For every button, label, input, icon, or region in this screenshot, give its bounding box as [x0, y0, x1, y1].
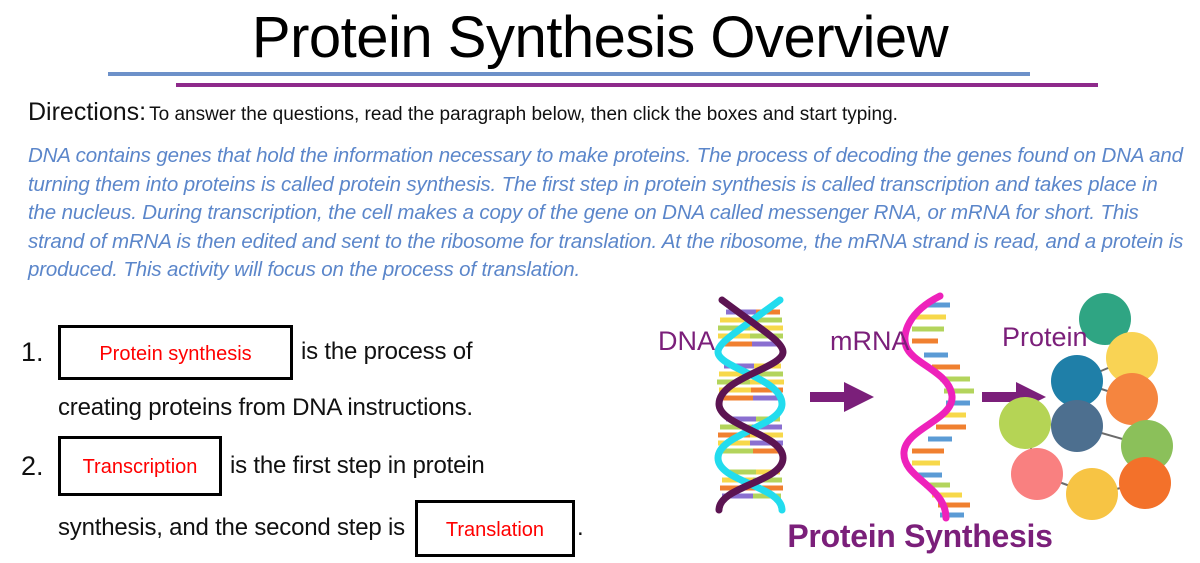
question-1-line2-text: creating proteins from DNA instructions. — [58, 394, 473, 422]
directions-text: To answer the questions, read the paragr… — [149, 104, 898, 125]
node-lime — [999, 397, 1051, 449]
question-1-line-2: creating proteins from DNA instructions. — [14, 382, 674, 434]
question-2-line-2: synthesis, and the second step is Transl… — [14, 498, 674, 558]
answer-input-1[interactable]: Protein synthesis — [58, 325, 293, 380]
question-1-line-1: 1. Protein synthesis is the process of — [14, 322, 674, 382]
question-2-line-1: 2. Transcription is the first step in pr… — [14, 434, 674, 498]
node-blue — [1051, 355, 1103, 407]
diagram-caption: Protein Synthesis — [640, 518, 1200, 555]
question-1: 1. Protein synthesis is the process of c… — [14, 322, 674, 434]
title-underline-blue — [108, 72, 1030, 76]
dna-helix-icon — [717, 300, 784, 510]
page-title: Protein Synthesis Overview — [0, 6, 1200, 70]
title-block: Protein Synthesis Overview — [0, 0, 1200, 92]
node-orange — [1106, 373, 1158, 425]
question-2-text-after: is the first step in protein — [230, 452, 485, 480]
answer-input-2[interactable]: Transcription — [58, 436, 222, 496]
reading-paragraph: DNA contains genes that hold the informa… — [28, 142, 1188, 285]
directions-line: Directions:To answer the questions, read… — [28, 98, 898, 127]
node-slate — [1051, 400, 1103, 452]
node-salmon — [1011, 448, 1063, 500]
question-1-number: 1. — [14, 337, 58, 368]
title-underline-purple — [176, 83, 1098, 87]
question-2-number: 2. — [14, 451, 58, 482]
arrow-transcription-icon — [810, 382, 874, 412]
node-gold — [1066, 468, 1118, 520]
question-2-line2-before: synthesis, and the second step is — [58, 514, 405, 542]
node-deep-orange — [1119, 457, 1171, 509]
diagram-label-protein: Protein — [1002, 322, 1088, 353]
question-1-text-after: is the process of — [301, 338, 472, 366]
mrna-strand-icon — [904, 296, 974, 518]
protein-synthesis-diagram: DNA mRNA Protein — [640, 286, 1200, 563]
question-2: 2. Transcription is the first step in pr… — [14, 434, 674, 558]
diagram-label-dna: DNA — [658, 326, 715, 357]
questions-list: 1. Protein synthesis is the process of c… — [14, 322, 674, 558]
diagram-graphic — [640, 286, 1200, 526]
directions-label: Directions: — [28, 98, 146, 126]
answer-input-3[interactable]: Translation — [415, 500, 575, 557]
question-2-line2-after: . — [577, 514, 583, 542]
diagram-label-mrna: mRNA — [830, 326, 910, 357]
